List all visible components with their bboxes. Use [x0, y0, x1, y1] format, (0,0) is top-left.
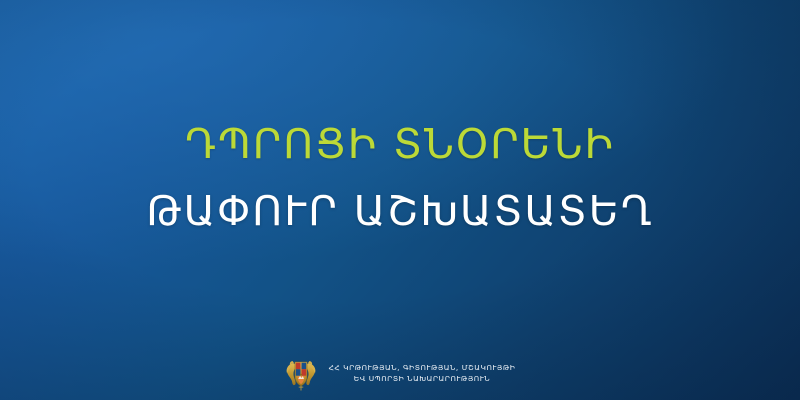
- headline-block: ԴՊՐՈՑԻ ՏՆՕՐԵՆԻ ԹԱՓՈՒՐ ԱՇԽԱՏԱՏԵՂ: [0, 118, 800, 239]
- footer-branding: ՀՀ ԿՐԹՈՒԹՅԱՆ, ԳԻՏՈՒԹՅԱՆ, ՄՇԱԿՈՒՅԹԻ ԵՎ ՍՊ…: [0, 354, 800, 392]
- announcement-banner: ԴՊՐՈՑԻ ՏՆՕՐԵՆԻ ԹԱՓՈՒՐ ԱՇԽԱՏԱՏԵՂ: [0, 0, 800, 400]
- ministry-name-line-1: ՀՀ ԿՐԹՈՒԹՅԱՆ, ԳԻՏՈՒԹՅԱՆ, ՄՇԱԿՈՒՅԹԻ: [329, 362, 516, 373]
- headline-line-secondary: ԹԱՓՈՒՐ ԱՇԽԱՏԱՏԵՂ: [0, 185, 800, 238]
- headline-line-primary: ԴՊՐՈՑԻ ՏՆՕՐԵՆԻ: [0, 118, 800, 171]
- armenia-coat-of-arms-icon: [285, 354, 317, 392]
- ministry-name: ՀՀ ԿՐԹՈՒԹՅԱՆ, ԳԻՏՈՒԹՅԱՆ, ՄՇԱԿՈՒՅԹԻ ԵՎ ՍՊ…: [329, 362, 516, 385]
- ministry-name-line-2: ԵՎ ՍՊՈՐՏԻ ՆԱԽԱՐԱՐՈՒԹՅՈՒՆ: [354, 373, 490, 384]
